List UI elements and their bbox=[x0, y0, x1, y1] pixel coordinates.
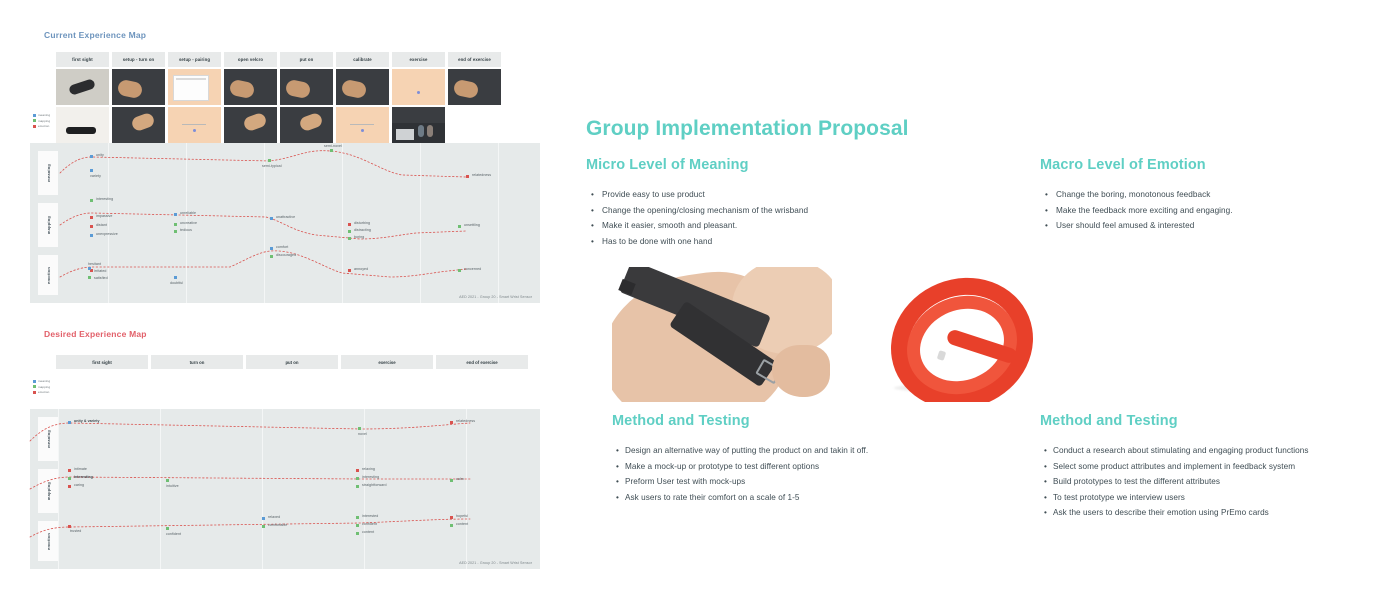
data-point bbox=[166, 479, 169, 482]
data-point bbox=[90, 216, 93, 219]
point-label: novel bbox=[358, 432, 367, 436]
point-label: doubtful bbox=[170, 281, 183, 285]
list-item: Has to be done with one hand bbox=[602, 234, 1016, 250]
legend-item: emotion bbox=[33, 390, 50, 394]
data-point bbox=[174, 213, 177, 216]
storyboard-photo bbox=[392, 69, 445, 105]
point-label: content bbox=[456, 522, 468, 526]
data-point bbox=[88, 267, 91, 270]
point-label: interested bbox=[362, 514, 378, 518]
legend-swatch-emotion bbox=[33, 125, 36, 128]
data-point bbox=[90, 169, 93, 172]
macro-method-list: Conduct a research about stimulating and… bbox=[1040, 443, 1400, 521]
micro-method-block: Method and Testing Design an alternative… bbox=[612, 413, 1032, 505]
section-heading-method-macro: Method and Testing bbox=[1040, 413, 1400, 429]
point-label: semi-typical bbox=[262, 164, 282, 168]
photo-red-jawbone-band bbox=[854, 267, 1044, 402]
micro-method-list: Design an alternative way of putting the… bbox=[612, 443, 1032, 505]
legend-label: emotion bbox=[38, 390, 49, 394]
legend-item: meaning bbox=[33, 379, 50, 383]
list-item: Design an alternative way of putting the… bbox=[625, 443, 1032, 459]
data-point bbox=[90, 155, 93, 158]
macro-level-column: Macro Level of Emotion Change the boring… bbox=[1040, 157, 1400, 234]
storyboard-stage-label: put on bbox=[246, 355, 338, 369]
storyboard-stage-label: end of exercise bbox=[436, 355, 528, 369]
storyboard-photo bbox=[280, 107, 333, 143]
point-label: intimate bbox=[74, 467, 87, 471]
data-point bbox=[356, 516, 359, 519]
desired-experience-chart: meaning mapping emotion unity & variety … bbox=[30, 409, 540, 569]
data-point bbox=[450, 479, 453, 482]
experience-maps-panel: Current Experience Map first sight setup… bbox=[0, 0, 560, 603]
photo-black-velcro-wristband bbox=[612, 267, 832, 402]
point-label: unsettling bbox=[464, 223, 480, 227]
macro-method-block: Method and Testing Conduct a research ab… bbox=[1040, 413, 1400, 521]
micro-bullet-list: Provide easy to use product Change the o… bbox=[586, 187, 1016, 249]
point-label: impassive bbox=[96, 214, 112, 218]
storyboard-photo bbox=[336, 69, 389, 105]
data-point bbox=[174, 230, 177, 233]
list-item: Make a mock-up or prototype to test diff… bbox=[625, 459, 1032, 475]
data-point bbox=[270, 255, 273, 258]
storyboard-stage-label: first sight bbox=[56, 355, 148, 369]
point-label: interesting bbox=[74, 475, 93, 479]
legend-item: mapping bbox=[33, 119, 50, 123]
current-map-legend: meaning mapping emotion bbox=[33, 113, 50, 128]
storyboard-column: setup - turn on bbox=[112, 52, 165, 143]
storyboard-photo bbox=[56, 107, 109, 143]
point-label: disturbing bbox=[354, 221, 370, 225]
point-label: distant bbox=[96, 223, 107, 227]
macro-bullet-list: Change the boring, monotonous feedback M… bbox=[1040, 187, 1400, 234]
list-item: Provide easy to use product bbox=[602, 187, 1016, 203]
data-point bbox=[356, 524, 359, 527]
storyboard-stage-label: open velcro bbox=[224, 52, 277, 67]
desired-map-title: Desired Experience Map bbox=[44, 329, 147, 339]
data-point bbox=[356, 477, 359, 480]
point-label: relaxing bbox=[362, 467, 375, 471]
list-item: Conduct a research about stimulating and… bbox=[1053, 443, 1400, 459]
point-label: relatedness bbox=[472, 173, 491, 177]
data-point bbox=[458, 269, 461, 272]
data-point bbox=[356, 469, 359, 472]
point-label: confident bbox=[362, 522, 377, 526]
data-point bbox=[356, 485, 359, 488]
point-label: boring bbox=[354, 235, 364, 239]
point-label: concerned bbox=[464, 267, 481, 271]
point-label: unexpressive bbox=[96, 232, 118, 236]
point-label: semi-novel bbox=[324, 144, 342, 148]
point-label: caring bbox=[74, 483, 84, 487]
storyboard-column: put on bbox=[280, 52, 333, 143]
micro-level-column: Micro Level of Meaning Provide easy to u… bbox=[586, 157, 1016, 249]
storyboard-column: setup - pairing bbox=[168, 52, 221, 143]
desired-map-legend: meaning mapping emotion bbox=[33, 379, 50, 394]
data-point bbox=[348, 237, 351, 240]
storyboard-column: exercise bbox=[392, 52, 445, 143]
point-label: comfortable bbox=[268, 523, 287, 527]
list-item: Ask the users to describe their emotion … bbox=[1053, 505, 1400, 521]
data-point bbox=[90, 225, 93, 228]
list-item: Preform User test with mock-ups bbox=[625, 474, 1032, 490]
point-label: trusted bbox=[70, 529, 81, 533]
point-label: hesitant bbox=[88, 262, 101, 266]
data-point bbox=[68, 477, 71, 480]
data-point bbox=[268, 159, 271, 162]
data-point bbox=[450, 421, 453, 424]
storyboard-stage-label: calibrate bbox=[336, 52, 389, 67]
point-label: straightforward bbox=[362, 483, 387, 487]
point-label: uncreative bbox=[180, 221, 197, 225]
data-point bbox=[270, 247, 273, 250]
point-label: calm bbox=[456, 477, 464, 481]
data-point bbox=[450, 524, 453, 527]
legend-label: emotion bbox=[38, 124, 49, 128]
point-label: relatedness bbox=[456, 419, 475, 423]
legend-item: mapping bbox=[33, 385, 50, 389]
data-point bbox=[262, 517, 265, 520]
legend-swatch-emotion bbox=[33, 391, 36, 394]
data-point bbox=[262, 525, 265, 528]
storyboard-photo bbox=[392, 107, 445, 143]
storyboard-column: first sight bbox=[56, 52, 109, 143]
storyboard-photo bbox=[168, 107, 221, 143]
data-point bbox=[330, 149, 333, 152]
legend-swatch-mapping bbox=[33, 385, 36, 388]
list-item: Make the feedback more exciting and enga… bbox=[1056, 203, 1400, 219]
storyboard-photo bbox=[112, 69, 165, 105]
storyboard-photo bbox=[112, 107, 165, 143]
storyboard-stage-label: exercise bbox=[341, 355, 433, 369]
point-label: annoyed bbox=[354, 267, 368, 271]
list-item: Select some product attributes and imple… bbox=[1053, 459, 1400, 475]
list-item: Ask users to rate their comfort on a sca… bbox=[625, 490, 1032, 506]
data-point bbox=[174, 276, 177, 279]
point-label: content bbox=[362, 530, 374, 534]
storyboard-column: open velcro bbox=[224, 52, 277, 143]
storyboard-stage-label: turn on bbox=[151, 355, 243, 369]
list-item: User should feel amused & interested bbox=[1056, 218, 1400, 234]
chart-caption: AED 2021 - Group 20 - Smart Wrist Sensor bbox=[459, 295, 532, 299]
data-point bbox=[358, 427, 361, 430]
data-point bbox=[90, 199, 93, 202]
storyboard-stage-label: setup - turn on bbox=[112, 52, 165, 67]
section-heading-macro: Macro Level of Emotion bbox=[1040, 157, 1400, 173]
storyboard-photo bbox=[56, 69, 109, 105]
point-label: confident bbox=[166, 532, 181, 536]
data-point bbox=[450, 516, 453, 519]
current-storyboard: first sight setup - turn on setup - pair… bbox=[56, 52, 501, 143]
section-heading-method-micro: Method and Testing bbox=[612, 413, 1032, 429]
data-point bbox=[348, 223, 351, 226]
storyboard-column: end of exercise bbox=[448, 52, 501, 143]
storyboard-photo bbox=[336, 107, 389, 143]
storyboard-photo-empty bbox=[448, 107, 501, 143]
storyboard-stage-label: end of exercise bbox=[448, 52, 501, 67]
list-item: Make it easier, smooth and pleasant. bbox=[602, 218, 1016, 234]
legend-swatch-meaning bbox=[33, 114, 36, 117]
data-point bbox=[174, 223, 177, 226]
storyboard-photo bbox=[448, 69, 501, 105]
point-label: variety bbox=[90, 174, 101, 178]
point-label: unreliable bbox=[180, 211, 196, 215]
data-point bbox=[466, 175, 469, 178]
data-point bbox=[348, 230, 351, 233]
storyboard-photo bbox=[280, 69, 333, 105]
list-item: Change the boring, monotonous feedback bbox=[1056, 187, 1400, 203]
point-label: interesting bbox=[362, 475, 379, 479]
point-label: relaxed bbox=[268, 515, 280, 519]
point-label: unity bbox=[96, 153, 104, 157]
point-label: intuitive bbox=[166, 484, 179, 488]
data-point bbox=[68, 469, 71, 472]
chart-caption: AED 2021 - Group 20 - Smart Wrist Sensor bbox=[459, 561, 532, 565]
proposal-panel: Group Implementation Proposal Micro Leve… bbox=[560, 0, 1400, 603]
legend-swatch-mapping bbox=[33, 119, 36, 122]
point-label: hopeful bbox=[456, 514, 468, 518]
data-point bbox=[68, 485, 71, 488]
data-point bbox=[270, 217, 273, 220]
point-label: unattractive bbox=[276, 215, 295, 219]
legend-label: meaning bbox=[38, 379, 50, 383]
legend-swatch-meaning bbox=[33, 380, 36, 383]
legend-label: mapping bbox=[38, 385, 50, 389]
data-point bbox=[68, 525, 71, 528]
point-label: tedious bbox=[180, 228, 192, 232]
legend-item: meaning bbox=[33, 113, 50, 117]
list-item: To test prototype we interview users bbox=[1053, 490, 1400, 506]
data-point bbox=[166, 527, 169, 530]
storyboard-stage-label: first sight bbox=[56, 52, 109, 67]
data-point bbox=[348, 269, 351, 272]
legend-label: meaning bbox=[38, 113, 50, 117]
current-experience-chart: meaning mapping emotion unity variety bbox=[30, 143, 540, 303]
data-point bbox=[90, 234, 93, 237]
point-label: satisfied bbox=[94, 276, 108, 280]
legend-item: emotion bbox=[33, 124, 50, 128]
page-title: Group Implementation Proposal bbox=[586, 117, 909, 141]
point-label: comfort bbox=[276, 245, 288, 249]
data-point bbox=[356, 532, 359, 535]
point-label: distracting bbox=[354, 228, 371, 232]
storyboard-stage-label: setup - pairing bbox=[168, 52, 221, 67]
storyboard-photo bbox=[224, 69, 277, 105]
desired-trend-lines bbox=[30, 409, 540, 569]
storyboard-column: calibrate bbox=[336, 52, 389, 143]
storyboard-stage-label: put on bbox=[280, 52, 333, 67]
point-label: discouraged bbox=[276, 253, 296, 257]
storyboard-stage-label: exercise bbox=[392, 52, 445, 67]
list-item: Change the opening/closing mechanism of … bbox=[602, 203, 1016, 219]
storyboard-photo bbox=[224, 107, 277, 143]
legend-label: mapping bbox=[38, 119, 50, 123]
storyboard-photo bbox=[168, 69, 221, 105]
point-label: interesting bbox=[96, 197, 113, 201]
data-point bbox=[88, 276, 91, 279]
current-map-title: Current Experience Map bbox=[44, 30, 146, 40]
desired-storyboard: first sight turn on put on exercise end … bbox=[56, 355, 528, 369]
presentation-slide: Current Experience Map first sight setup… bbox=[0, 0, 1400, 603]
data-point bbox=[68, 421, 71, 424]
list-item: Build prototypes to test the different a… bbox=[1053, 474, 1400, 490]
section-heading-micro: Micro Level of Meaning bbox=[586, 157, 1016, 173]
data-point bbox=[458, 225, 461, 228]
point-label: irritated bbox=[94, 269, 106, 273]
point-label: unity & variety bbox=[74, 419, 100, 423]
